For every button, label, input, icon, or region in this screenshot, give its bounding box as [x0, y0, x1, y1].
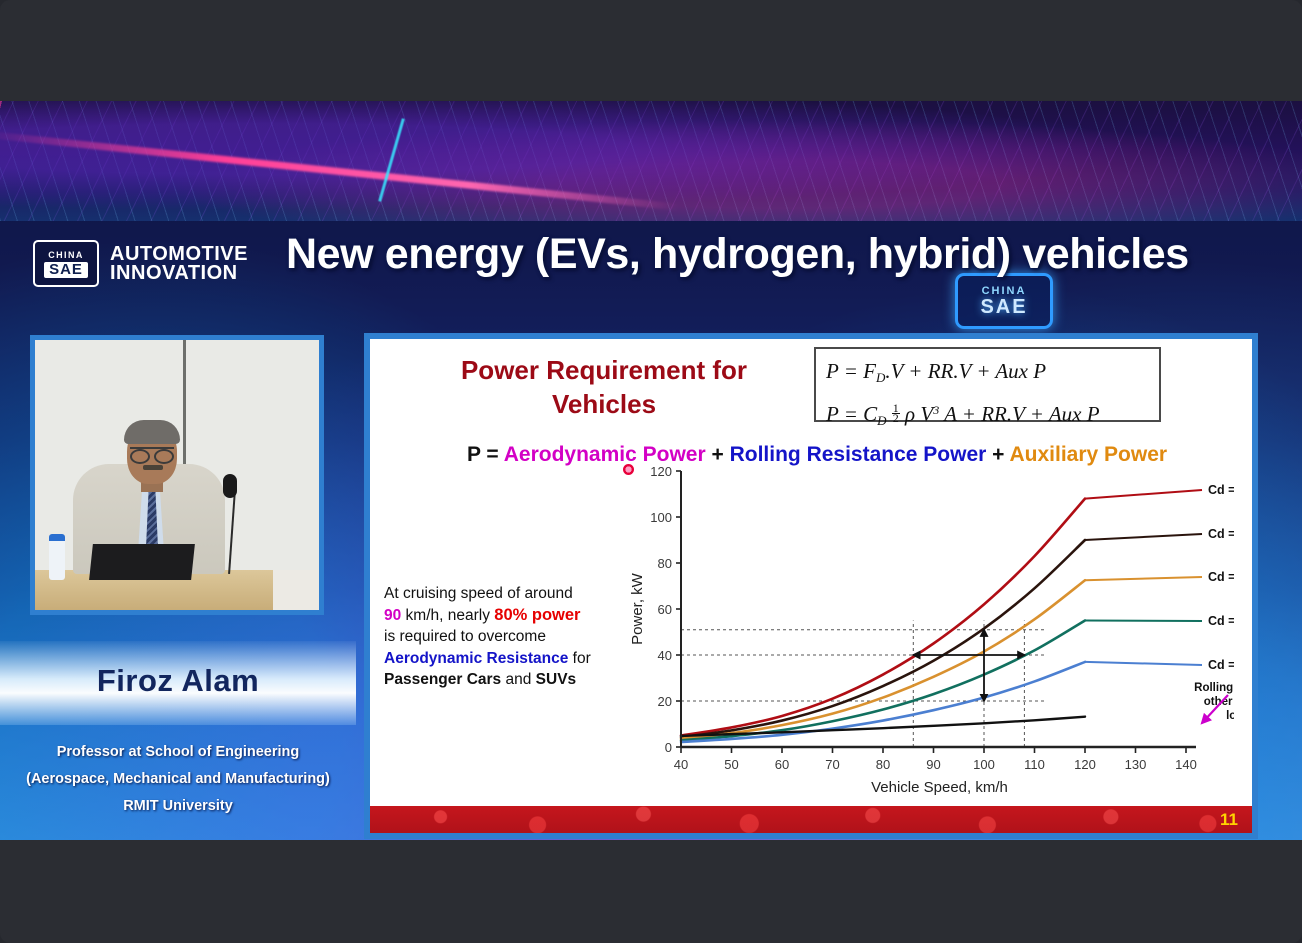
neon-line-decoration — [378, 118, 405, 201]
logo-sae-text: SAE — [44, 262, 88, 278]
logo-china-text: CHINA — [48, 250, 84, 261]
speaker-name: Firoz Alam — [0, 663, 356, 699]
slide-footer-bar: 11 — [370, 806, 1252, 833]
photo-microphone-icon — [223, 474, 237, 498]
wordmark-line-2: INNOVATION — [110, 264, 248, 283]
note-line-4: for — [568, 650, 590, 667]
note-line-1: At cruising speed of around — [384, 585, 573, 602]
svg-text:120: 120 — [650, 464, 672, 479]
slide-frame: Power Requirement for Vehicles P = FD.V … — [364, 333, 1258, 839]
chart-curves — [681, 499, 1085, 742]
note-line-2: km/h, nearly — [401, 607, 494, 624]
header-background — [0, 101, 1302, 221]
svg-text:0: 0 — [665, 740, 672, 755]
photo-laptop — [89, 544, 195, 580]
svg-text:40: 40 — [674, 757, 688, 772]
svg-text:Cd = 0.4: Cd = 0.4 — [1208, 570, 1234, 584]
speaker-role-line-1: Professor at School of Engineering — [0, 739, 356, 766]
note-aero-term: Aerodynamic Resistance — [384, 650, 568, 667]
note-line-3: is required to overcome — [384, 628, 546, 645]
photo-podium-side — [273, 570, 319, 610]
slide-heading-line-1: Power Requirement for — [404, 353, 804, 387]
brand-wordmark: AUTOMOTIVE INNOVATION — [110, 245, 248, 283]
photo-water-bottle — [49, 534, 65, 580]
video-stage: CHINA SAE CHINA SAE AUTOMOTIVE INNOVATIO… — [0, 101, 1302, 840]
svg-text:70: 70 — [825, 757, 839, 772]
svg-text:100: 100 — [650, 510, 672, 525]
neon-streak-decoration — [0, 130, 678, 210]
slide-heading-line-2: Vehicles — [404, 387, 804, 421]
svg-text:Vehicle Speed, km/h: Vehicle Speed, km/h — [871, 779, 1008, 796]
photo-microphone-stand — [228, 490, 236, 574]
slide-page-number: 11 — [1220, 810, 1238, 830]
svg-text:Cd = 0.5: Cd = 0.5 — [1208, 527, 1234, 541]
speaker-role-line-3: RMIT University — [0, 793, 356, 820]
svg-text:120: 120 — [1074, 757, 1096, 772]
brand-logo: CHINA SAE AUTOMOTIVE INNOVATION — [33, 240, 248, 287]
svg-text:80: 80 — [876, 757, 890, 772]
equation-prefix: P = — [467, 443, 504, 466]
slide-heading: Power Requirement for Vehicles — [404, 353, 804, 421]
formula-box: P = FD.V + RR.V + Aux P P = CD 12 ρ V3 A… — [814, 347, 1161, 422]
svg-text:20: 20 — [658, 694, 672, 709]
chart-svg: 0204060801001204050607080901001101201301… — [626, 459, 1234, 797]
formula-line-2: P = CD 12 ρ V3 A + RR.V + Aux P — [826, 394, 1149, 437]
speaker-role-line-2: (Aerospace, Mechanical and Manufacturing… — [0, 766, 356, 793]
svg-text:Cd = 0.2: Cd = 0.2 — [1208, 658, 1234, 672]
note-speed-value: 90 — [384, 607, 401, 624]
letterbox-top — [0, 0, 1302, 101]
power-vs-speed-chart: 0204060801001204050607080901001101201301… — [626, 459, 1234, 797]
china-sae-logo-icon: CHINA SAE — [33, 240, 99, 287]
note-and: and — [501, 671, 535, 688]
svg-text:60: 60 — [658, 602, 672, 617]
photo-person-hair — [124, 420, 180, 444]
svg-text:90: 90 — [926, 757, 940, 772]
formula-line-1: P = FD.V + RR.V + Aux P — [826, 355, 1149, 394]
wordmark-line-1: AUTOMOTIVE — [110, 245, 248, 264]
china-sae-badge: CHINA SAE — [955, 273, 1053, 329]
badge-china-label: CHINA — [982, 286, 1027, 297]
slide-note-text: At cruising speed of around 90 km/h, nea… — [384, 583, 620, 691]
svg-text:Rolling power and: Rolling power and — [1194, 682, 1234, 694]
svg-text:80: 80 — [658, 556, 672, 571]
presentation-title: New energy (EVs, hydrogen, hybrid) vehic… — [286, 230, 1266, 279]
svg-text:losses: losses — [1226, 710, 1234, 722]
speaker-photo — [35, 340, 319, 610]
svg-text:130: 130 — [1125, 757, 1147, 772]
note-passenger-cars: Passenger Cars — [384, 671, 501, 688]
note-percent-value: 80% power — [494, 606, 580, 624]
speaker-video-frame — [30, 335, 324, 615]
svg-text:110: 110 — [1024, 757, 1045, 772]
badge-sae-label: SAE — [980, 297, 1027, 317]
svg-text:100: 100 — [973, 757, 995, 772]
svg-text:Cd = 0.3: Cd = 0.3 — [1208, 614, 1234, 628]
svg-text:Power, kW: Power, kW — [629, 572, 646, 645]
letterbox-bottom — [0, 840, 1302, 943]
svg-text:40: 40 — [658, 648, 672, 663]
svg-text:140: 140 — [1175, 757, 1197, 772]
svg-text:50: 50 — [724, 757, 738, 772]
svg-text:Cd = 0.6: Cd = 0.6 — [1208, 483, 1234, 497]
svg-text:60: 60 — [775, 757, 789, 772]
photo-person-moustache — [143, 465, 163, 470]
photo-person-glasses — [130, 447, 174, 460]
speaker-affiliation: Professor at School of Engineering (Aero… — [0, 739, 356, 820]
slide-content: Power Requirement for Vehicles P = FD.V … — [370, 339, 1252, 833]
screen-capture: CHINA SAE CHINA SAE AUTOMOTIVE INNOVATIO… — [0, 0, 1302, 943]
note-suvs: SUVs — [536, 671, 577, 688]
